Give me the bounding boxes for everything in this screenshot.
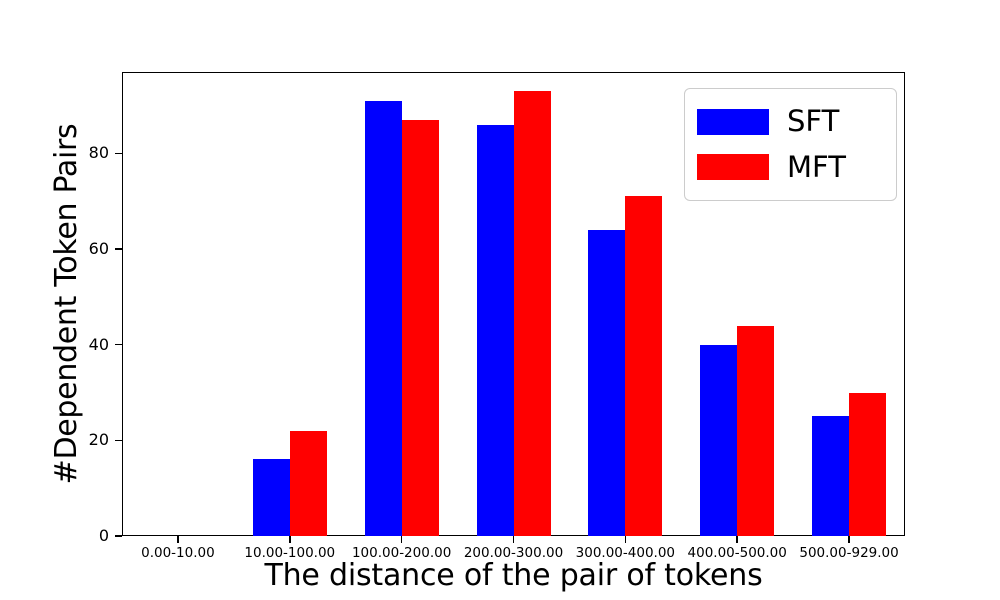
legend-entry: MFT	[697, 147, 884, 187]
y-tick-mark	[115, 535, 122, 537]
bar-mft	[737, 326, 774, 536]
y-tick-label: 80	[89, 143, 109, 163]
x-tick-mark	[401, 536, 403, 543]
y-tick-label: 20	[89, 430, 109, 450]
legend-label: MFT	[787, 153, 846, 182]
bar-sft	[588, 230, 625, 536]
bar-mft	[402, 120, 439, 536]
x-tick-mark	[289, 536, 291, 543]
bar-sft	[477, 125, 514, 536]
y-tick-label: 0	[99, 526, 109, 546]
x-tick-mark	[177, 536, 179, 543]
y-tick-mark	[115, 440, 122, 442]
bar-mft	[625, 196, 662, 536]
bar-mft	[290, 431, 327, 536]
bar-sft	[253, 459, 290, 536]
bar-mft	[514, 91, 551, 536]
x-tick-mark	[848, 536, 850, 543]
y-tick-mark	[115, 153, 122, 155]
bar-sft	[812, 416, 849, 536]
legend-swatch-sft	[697, 109, 769, 135]
y-tick-label: 40	[89, 335, 109, 355]
bar-chart-figure: 020406080 #Dependent Token Pairs 0.00-10…	[0, 0, 1000, 600]
y-tick-mark	[115, 344, 122, 346]
legend-label: SFT	[787, 107, 839, 136]
x-axis-label: The distance of the pair of tokens	[122, 558, 905, 593]
x-tick-mark	[625, 536, 627, 543]
chart-legend: SFTMFT	[684, 88, 897, 201]
x-tick-mark	[513, 536, 515, 543]
y-tick-mark	[115, 248, 122, 250]
bar-sft	[700, 345, 737, 536]
legend-swatch-mft	[697, 154, 769, 180]
bar-mft	[849, 393, 886, 537]
y-axis-label: #Dependent Token Pairs	[44, 72, 88, 536]
x-tick-mark	[736, 536, 738, 543]
y-tick-label: 60	[89, 239, 109, 259]
legend-entry: SFT	[697, 102, 884, 142]
bar-sft	[365, 101, 402, 536]
